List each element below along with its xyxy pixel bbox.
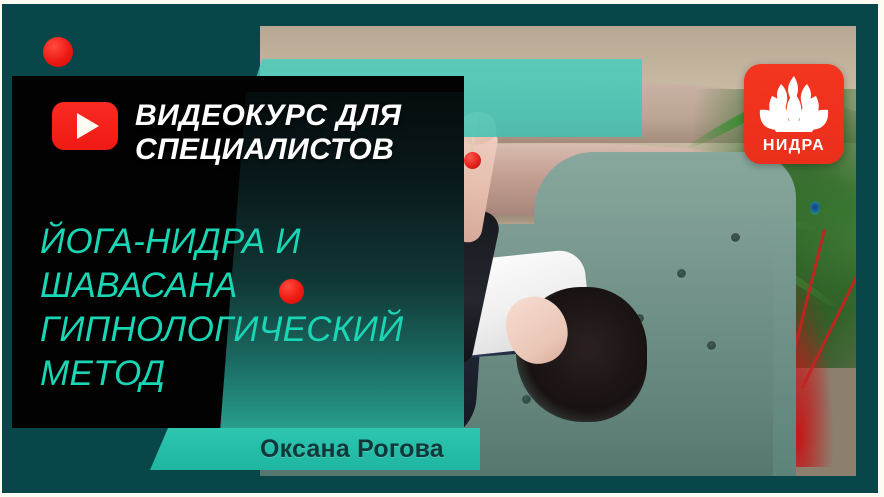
page-title: ЙОГА-НИДРА И ШАВАСАНА ГИПНОЛОГИЧЕСКИЙ МЕ… (40, 220, 470, 396)
red-accent-dot-top (43, 37, 73, 67)
youtube-play-icon[interactable] (52, 102, 118, 150)
photo-pendulum-ball (464, 152, 481, 169)
photo-sofa-tuft (731, 233, 740, 242)
logo-wordmark: НИДРА (744, 137, 844, 155)
lotus-icon (756, 72, 832, 134)
photo-sofa-tuft (707, 341, 716, 350)
nidra-logo[interactable]: НИДРА (744, 64, 844, 164)
video-thumbnail: ВИДЕОКУРС ДЛЯ СПЕЦИАЛИСТОВ ЙОГА-НИДРА И … (0, 0, 884, 497)
presenter-name: Оксана Рогова (260, 431, 480, 467)
red-accent-dot-middle (279, 279, 304, 304)
kicker-text: ВИДЕОКУРС ДЛЯ СПЕЦИАЛИСТОВ (135, 99, 465, 167)
thumbnail-canvas: ВИДЕОКУРС ДЛЯ СПЕЦИАЛИСТОВ ЙОГА-НИДРА И … (2, 4, 878, 493)
play-triangle-icon (77, 113, 99, 139)
